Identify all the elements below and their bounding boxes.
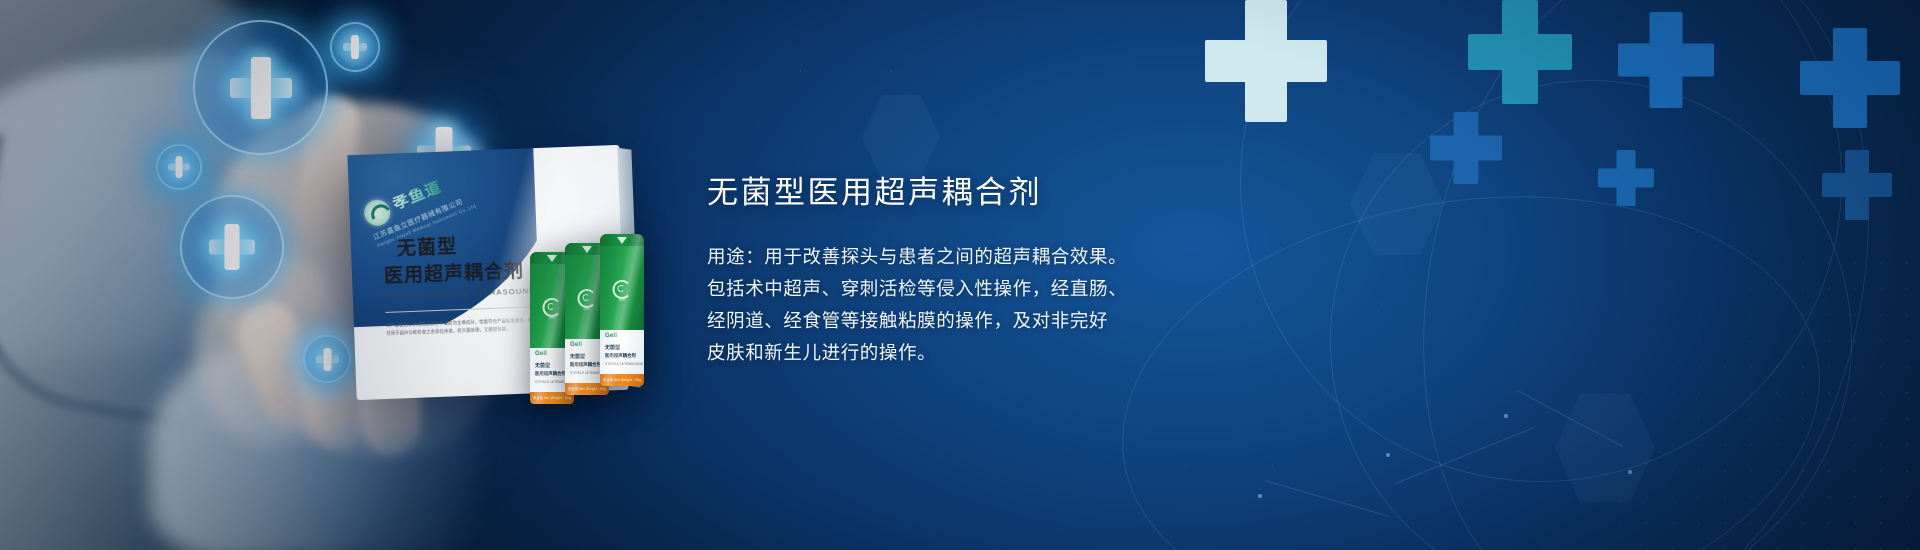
description-paragraph: 用途：用于改善探头与患者之间的超声耦合效果。 包括术中超声、穿刺活检等侵入性操作… bbox=[707, 241, 1207, 368]
product-sachet: Gell Gell 无菌型 医用超声耦合剂 STERILE ULTRASOUND… bbox=[600, 234, 644, 386]
node-dot bbox=[1258, 494, 1262, 498]
description-line: 经阴道、经食管等接触粘膜的操作，及对非完好 bbox=[707, 305, 1207, 337]
dot-grid-pattern bbox=[1400, 250, 1920, 550]
banner-copy: 无菌型医用超声耦合剂 用途：用于改善探头与患者之间的超声耦合效果。 包括术中超声… bbox=[707, 174, 1207, 368]
cross-icon bbox=[1205, 0, 1327, 122]
cross-icon bbox=[1598, 150, 1654, 206]
cross-icon bbox=[1822, 150, 1892, 220]
cross-icon bbox=[1618, 12, 1714, 108]
cross-icon bbox=[1800, 28, 1900, 128]
cross-icon bbox=[330, 22, 380, 72]
description-line: 用途：用于改善探头与患者之间的超声耦合效果。 bbox=[707, 241, 1207, 273]
product-hero-banner: 孝鱼道 江苏嘉鱼立医疗器械有限公司 Jiangsu Jiayuli Medica… bbox=[0, 0, 1920, 550]
page-title: 无菌型医用超声耦合剂 bbox=[707, 174, 1207, 211]
node-dot bbox=[1386, 453, 1390, 457]
cross-icon bbox=[193, 20, 328, 155]
description-line: 包括术中超声、穿刺活检等侵入性操作，经直肠、 bbox=[707, 273, 1207, 305]
cross-icon bbox=[1430, 112, 1502, 184]
cross-icon bbox=[156, 144, 202, 190]
cross-icon bbox=[180, 195, 284, 299]
cross-icon bbox=[1468, 0, 1572, 104]
cross-icon bbox=[303, 335, 351, 383]
description-line: 皮肤和新生儿进行的操作。 bbox=[707, 337, 1207, 369]
